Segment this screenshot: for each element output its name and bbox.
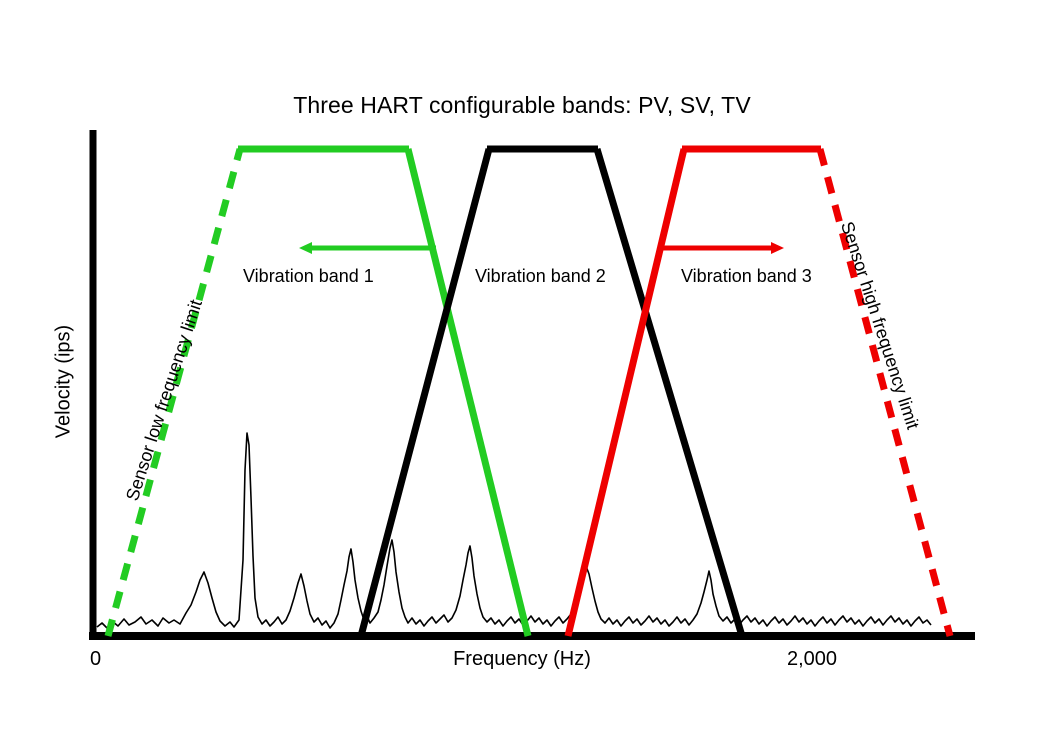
spectrum-trace bbox=[97, 433, 931, 628]
band-2-label: Vibration band 2 bbox=[475, 266, 606, 287]
x-axis-title: Frequency (Hz) bbox=[0, 648, 1044, 671]
band3-fall-dashed bbox=[820, 149, 950, 636]
band-1-label: Vibration band 1 bbox=[243, 266, 374, 287]
x-tick-label-0: 0 bbox=[90, 648, 101, 671]
chart-canvas: Three HART configurable bands: PV, SV, T… bbox=[0, 0, 1044, 747]
band1-left-arrow-icon bbox=[299, 242, 436, 254]
band-3-label: Vibration band 3 bbox=[681, 266, 812, 287]
x-tick-label-2000: 2,000 bbox=[787, 648, 837, 671]
y-axis-title: Velocity (ips) bbox=[53, 282, 76, 482]
band3-right-arrow-icon bbox=[661, 242, 784, 254]
chart-title: Three HART configurable bands: PV, SV, T… bbox=[0, 92, 1044, 119]
